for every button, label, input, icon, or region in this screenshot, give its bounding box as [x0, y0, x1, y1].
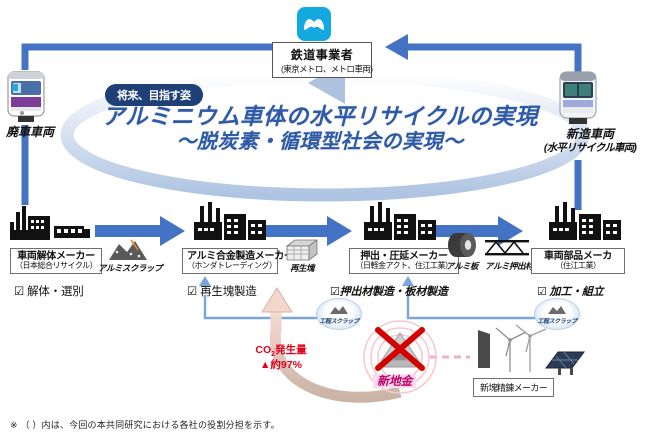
- material-label-aluminum-extrusion: アルミ押出材: [481, 260, 537, 272]
- co2-line-2: ▲約97%: [236, 359, 326, 371]
- railway-operator-members: (東京メトロ、メトロ車両): [281, 63, 363, 75]
- task-alloy: ☑ 再生塊製造: [187, 283, 257, 299]
- new-train-icon: [553, 68, 603, 133]
- page-title: アルミニウム車体の水平リサイクルの実現 〜脱炭素・循環型社会の実現〜: [85, 104, 555, 154]
- tokyo-metro-logo-icon: [297, 7, 331, 41]
- task-extrusion: ☑押出材製造・板材製造: [330, 283, 448, 299]
- headline-line-1: アルミニウム車体の水平リサイクルの実現: [85, 104, 555, 131]
- material-label-recycled-ingot: 再生塊: [273, 262, 331, 274]
- scrapped-train-icon: [2, 68, 50, 131]
- factory-icon: [545, 200, 623, 247]
- renewable-energy-icons: [472, 322, 590, 383]
- co2-arrowhead: [262, 288, 292, 312]
- diagram-canvas: 鉄道事業者 (東京メトロ、メトロ車両) 将来、目指す姿 アルミニウム車体の水平リ…: [0, 0, 650, 448]
- co2-reduction-label: CO2発生量 ▲約97%: [236, 344, 326, 371]
- process-scrap-badge: 工程スクラップ: [316, 298, 362, 330]
- factory-icon: [360, 200, 438, 247]
- material-label-aluminum-sheet: アルミ板: [440, 260, 484, 272]
- company-box-alloy: アルミ合金製造メーカー （ホンダトレーディング）: [182, 248, 278, 274]
- scrap-pile-icon: [328, 304, 350, 315]
- material-label-aluminum-scrap: アルミスクラップ: [98, 262, 158, 274]
- railway-operator-box: 鉄道事業者 (東京メトロ、メトロ車両): [272, 42, 372, 78]
- new-ingot-label: 新地金: [373, 374, 416, 388]
- arrowhead-to-operator: [385, 34, 408, 60]
- smelter-company-box: 新塊精錬メーカー: [473, 378, 554, 397]
- new-train-sublabel: (水平リサイクル車両): [530, 142, 650, 154]
- railway-operator-name: 鉄道事業者: [281, 46, 363, 63]
- factory-icon: [8, 202, 92, 247]
- task-dismantle: ☑ 解体・選別: [14, 283, 84, 299]
- red-cross-icon: [372, 326, 428, 377]
- factory-icon: [190, 200, 268, 247]
- scrapped-train-label: 廃車車両: [0, 126, 60, 140]
- future-vision-badge: 将来、目指す姿: [105, 84, 203, 106]
- new-ingot-tag: 新地金: [373, 372, 416, 390]
- scrap-bubble-stems: [338, 300, 556, 318]
- footnote: ※ （ ）内は、今回の本共同研究における各社の役割分担を示す。: [10, 418, 280, 431]
- company-box-parts: 車両部品メーカ （住江工業）: [531, 248, 625, 274]
- line-operator-to-scrap-train: [25, 47, 284, 70]
- co2-line-1: CO2発生量: [236, 344, 326, 359]
- headline-line-2: 〜脱炭素・循環型社会の実現〜: [85, 131, 555, 155]
- process-scrap-label: 工程スクラップ: [319, 316, 358, 325]
- scrap-pile-icon: [546, 304, 568, 315]
- task-parts: ☑ 加工・組立: [537, 283, 604, 299]
- company-box-dismantle: 車両解体メーカー （日本総合リサイクル）: [10, 248, 102, 274]
- new-train-label: 新造車両 (水平リサイクル車両): [530, 128, 650, 154]
